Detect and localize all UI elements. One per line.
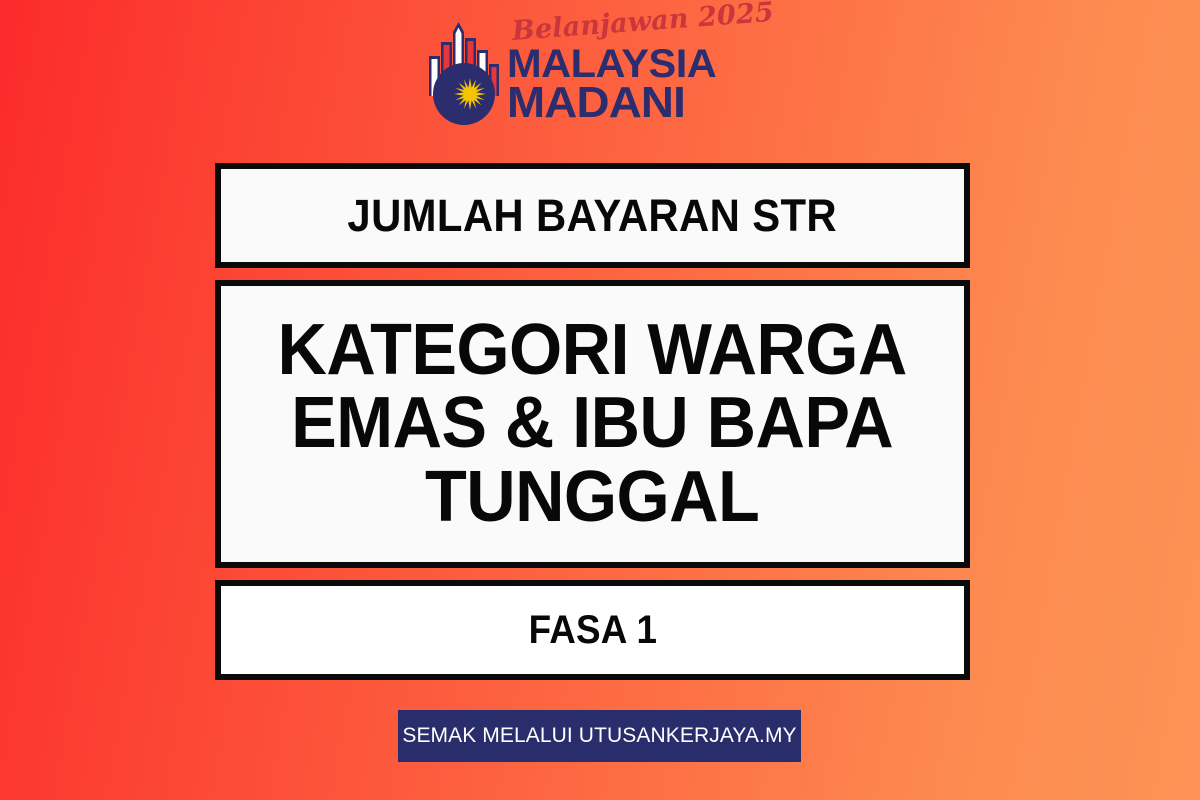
phase-panel: FASA 1 xyxy=(215,580,970,680)
logo-inner: Belanjawan 2025 MALAYSIA MADANI xyxy=(425,18,776,126)
logo-script-belanjawan: Belanjawan 2025 xyxy=(511,0,775,45)
logo-wordmark: Belanjawan 2025 MALAYSIA MADANI xyxy=(507,18,776,126)
check-via-website-button[interactable]: SEMAK MELALUI UTUSANKERJAYA.MY xyxy=(398,710,801,762)
page-title: JUMLAH BAYARAN STR xyxy=(335,190,851,242)
malaysia-madani-logo: Belanjawan 2025 MALAYSIA MADANI xyxy=(0,18,1200,138)
category-heading-line-1: KATEGORI WARGA xyxy=(278,314,907,387)
category-panel: KATEGORI WARGA EMAS & IBU BAPA TUNGGAL xyxy=(215,280,970,568)
malaysia-madani-emblem-icon xyxy=(425,18,503,126)
payment-title-panel: JUMLAH BAYARAN STR xyxy=(215,163,970,268)
logo-word-madani: MADANI xyxy=(507,83,786,124)
category-heading: KATEGORI WARGA EMAS & IBU BAPA TUNGGAL xyxy=(265,314,921,534)
poster-canvas: Belanjawan 2025 MALAYSIA MADANI JUMLAH B… xyxy=(0,0,1200,800)
phase-label: FASA 1 xyxy=(515,608,669,653)
category-heading-line-2: EMAS & IBU BAPA xyxy=(278,387,907,460)
category-heading-line-3: TUNGGAL xyxy=(278,461,907,534)
